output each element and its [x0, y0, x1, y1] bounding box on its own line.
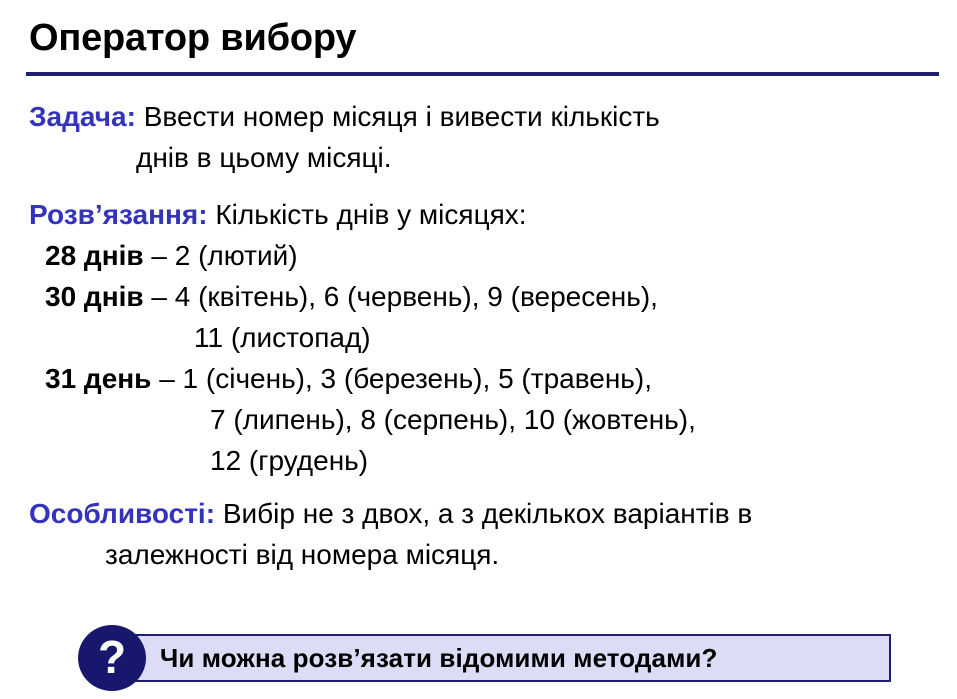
days-dash-31: –: [159, 363, 175, 394]
slide-body: Задача: Ввести номер місяця і вивести кі…: [0, 96, 957, 575]
features-line-1: Особливості: Вибір не з двох, а з декіль…: [29, 493, 957, 534]
days-row-30-continuation: 11 (листопад): [194, 317, 957, 358]
solution-intro: Кількість днів у місяцях:: [215, 199, 526, 230]
spacer-2: [0, 481, 957, 493]
solution-label: Розв’язання:: [29, 199, 208, 230]
days-term-31: 31 день: [45, 363, 151, 394]
task-line-1: Задача: Ввести номер місяця і вивести кі…: [29, 96, 957, 137]
days-row-31-continuation-1: 7 (липень), 8 (серпень), 10 (жовтень),: [210, 399, 957, 440]
days-list-31: 1 (січень), 3 (березень), 5 (травень),: [183, 363, 652, 394]
days-list-28: 2 (лютий): [175, 240, 298, 271]
task-label: Задача:: [29, 101, 136, 132]
days-sep2-28: [167, 240, 175, 271]
days-dash-30: –: [151, 281, 167, 312]
solution-line: Розв’язання: Кількість днів у місяцях:: [29, 194, 957, 235]
days-row-28: 28 днів – 2 (лютий): [45, 235, 957, 276]
slide-root: Оператор вибору Задача: Ввести номер міс…: [0, 0, 957, 699]
days-dash-28: –: [151, 240, 167, 271]
question-banner: ? Чи можна розв’язати відомими методами?: [0, 618, 957, 699]
spacer-1: [0, 178, 957, 194]
days-row-31-continuation-2: 12 (грудень): [210, 440, 957, 481]
days-term-28: 28 днів: [45, 240, 144, 271]
features-line-2: залежності від номера місяця.: [105, 534, 957, 575]
days-row-30: 30 днів – 4 (квітень), 6 (червень), 9 (в…: [45, 276, 957, 317]
days-sep2-31: [175, 363, 183, 394]
days-sep2-30: [167, 281, 175, 312]
question-text: Чи можна розв’язати відомими методами?: [160, 634, 900, 682]
features-label: Особливості:: [29, 498, 215, 529]
question-mark-icon: ?: [78, 625, 146, 691]
task-line-2: днів в цьому місяці.: [136, 137, 957, 178]
title-divider: [26, 72, 939, 76]
task-line-1-text: Ввести номер місяця і вивести кількість: [144, 101, 660, 132]
days-list-30: 4 (квітень), 6 (червень), 9 (вересень),: [175, 281, 658, 312]
features-text-1: Вибір не з двох, а з декількох варіантів…: [223, 498, 752, 529]
task-text-1: [136, 101, 144, 132]
page-title: Оператор вибору: [29, 14, 356, 62]
days-row-31: 31 день – 1 (січень), 3 (березень), 5 (т…: [45, 358, 957, 399]
days-term-30: 30 днів: [45, 281, 144, 312]
features-space: [215, 498, 223, 529]
